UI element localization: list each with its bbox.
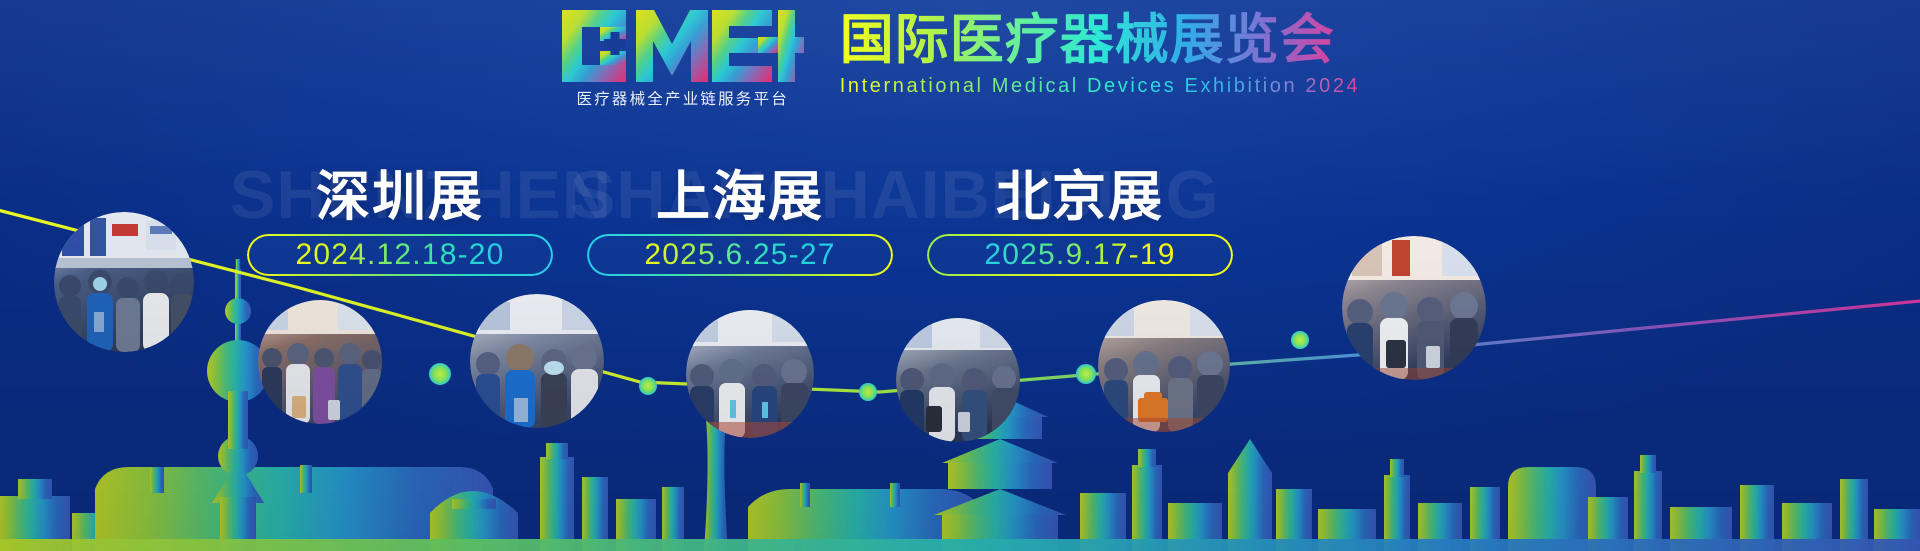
exhibition-photo-3 bbox=[470, 294, 604, 428]
city-block-shanghai[interactable]: SHANGHAI 上海展 2025.6.25-27 bbox=[570, 146, 910, 296]
date-badge-shenzhen[interactable]: 2024.12.18-20 bbox=[247, 234, 553, 276]
logo-subtitle: 医疗器械全产业链服务平台 bbox=[577, 87, 789, 109]
exhibition-photo-5 bbox=[896, 318, 1020, 442]
title-block: 国际医疗器械展览会 International Medical Devices … bbox=[840, 8, 1361, 98]
banner-header: 医疗器械全产业链服务平台 国际医疗器械展览会 International Med… bbox=[0, 8, 1920, 116]
city-list: SHENZHEN 深圳展 2024.12.18-20 SHANGHAI 上海展 … bbox=[230, 146, 1450, 296]
banner-title-cn: 国际医疗器械展览会 bbox=[840, 10, 1335, 70]
cmeh-wordmark-icon bbox=[560, 8, 806, 84]
city-name-shanghai: 上海展 bbox=[570, 162, 910, 232]
exhibition-photo-2 bbox=[258, 300, 382, 424]
date-text-shenzhen: 2024.12.18-20 bbox=[295, 238, 504, 272]
date-badge-shanghai[interactable]: 2025.6.25-27 bbox=[587, 234, 893, 276]
exhibition-photo-4 bbox=[686, 310, 814, 438]
city-name-beijing: 北京展 bbox=[910, 162, 1250, 232]
cmeh-logo: 医疗器械全产业链服务平台 bbox=[560, 8, 806, 109]
city-block-beijing[interactable]: BEIJING 北京展 2025.9.17-19 bbox=[910, 146, 1250, 296]
exhibition-photo-1 bbox=[54, 212, 194, 352]
date-text-beijing: 2025.9.17-19 bbox=[984, 238, 1175, 272]
banner-root: 医疗器械全产业链服务平台 国际医疗器械展览会 International Med… bbox=[0, 0, 1920, 551]
banner-title-en: International Medical Devices Exhibition… bbox=[840, 75, 1361, 98]
exhibition-photo-6 bbox=[1098, 300, 1230, 432]
city-block-shenzhen[interactable]: SHENZHEN 深圳展 2024.12.18-20 bbox=[230, 146, 570, 296]
date-badge-beijing[interactable]: 2025.9.17-19 bbox=[927, 234, 1233, 276]
city-name-shenzhen: 深圳展 bbox=[230, 162, 570, 232]
date-text-shanghai: 2025.6.25-27 bbox=[644, 238, 835, 272]
